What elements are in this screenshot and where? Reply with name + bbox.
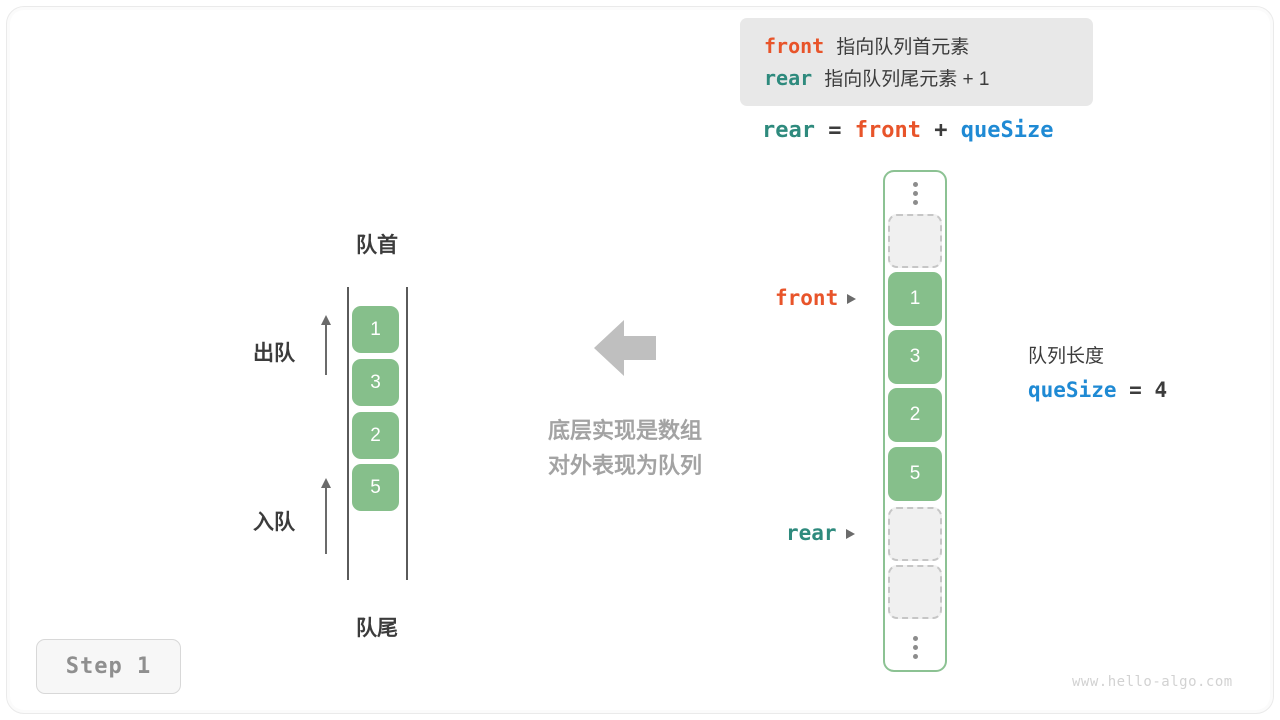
step-badge: Step 1 <box>36 639 181 694</box>
quesize-label: 队列长度 <box>1028 342 1167 372</box>
array-cell[interactable]: 5 <box>888 447 942 501</box>
queue-head-label: 队首 <box>317 229 437 259</box>
legend-text-rear: 指向队列尾元素 + 1 <box>824 69 989 90</box>
formula-front: front <box>855 118 921 143</box>
watermark: www.hello-algo.com <box>1072 674 1233 690</box>
queue-cell[interactable]: 3 <box>352 359 399 406</box>
quesize-equals: = <box>1117 378 1155 402</box>
legend-keyword-front: front <box>764 34 824 58</box>
formula-quesize: queSize <box>961 118 1054 143</box>
front-pointer-label: front <box>775 286 856 310</box>
arrow-right-icon <box>846 529 855 539</box>
array-cell[interactable] <box>888 214 942 268</box>
quesize-annotation: 队列长度 queSize = 4 <box>1028 342 1167 408</box>
quesize-expression: queSize = 4 <box>1028 372 1167 408</box>
array-cell[interactable]: 1 <box>888 272 942 326</box>
rear-pointer-text: rear <box>786 521 837 545</box>
queue-cell[interactable]: 5 <box>352 464 399 511</box>
diagram-canvas: front 指向队列首元素 rear 指向队列尾元素 + 1 rear = fr… <box>0 0 1280 720</box>
formula-rear: rear <box>762 118 815 143</box>
queue-tail-label: 队尾 <box>317 612 437 642</box>
queue-cell[interactable]: 1 <box>352 306 399 353</box>
queue-rail-right <box>406 287 408 580</box>
front-pointer-text: front <box>775 286 838 310</box>
quesize-value: 4 <box>1154 378 1167 402</box>
arrow-right-icon <box>847 294 856 304</box>
legend-text-front: 指向队列首元素 <box>836 37 969 58</box>
quesize-name: queSize <box>1028 378 1117 402</box>
queue-cell[interactable]: 2 <box>352 412 399 459</box>
array-cell[interactable] <box>888 507 942 561</box>
legend-line-front: front 指向队列首元素 <box>764 31 1093 63</box>
center-caption-line2: 对外表现为队列 <box>505 448 745 483</box>
pointer-legend-box: front 指向队列首元素 rear 指向队列尾元素 + 1 <box>740 18 1093 106</box>
center-caption: 底层实现是数组 对外表现为队列 <box>505 413 745 483</box>
legend-line-rear: rear 指向队列尾元素 + 1 <box>764 63 1093 95</box>
center-caption-line1: 底层实现是数组 <box>505 413 745 448</box>
formula-plus: + <box>921 118 961 143</box>
rear-formula: rear = front + queSize <box>762 118 1053 143</box>
array-cell[interactable] <box>888 565 942 619</box>
arrow-up-icon <box>318 478 334 554</box>
arrow-up-icon <box>318 315 334 375</box>
vertical-ellipsis-icon <box>883 626 947 668</box>
rear-pointer-label: rear <box>786 521 855 545</box>
queue-rail-left <box>347 287 349 580</box>
vertical-ellipsis-icon <box>883 172 947 214</box>
array-cell[interactable]: 2 <box>888 388 942 442</box>
dequeue-label: 出队 <box>253 337 295 367</box>
formula-equals: = <box>815 118 855 143</box>
legend-keyword-rear: rear <box>764 66 812 90</box>
arrow-left-icon <box>594 320 656 376</box>
array-cell[interactable]: 3 <box>888 330 942 384</box>
enqueue-label: 入队 <box>253 506 295 536</box>
